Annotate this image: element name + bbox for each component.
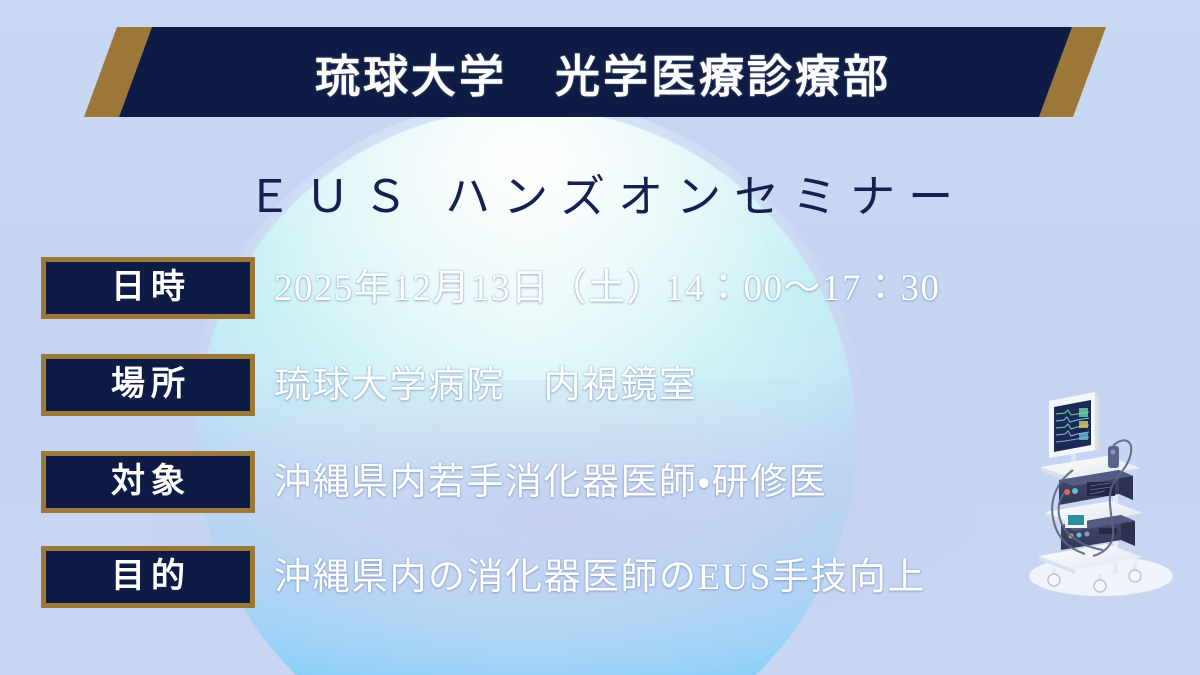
unit-indicator-blue [1072, 488, 1078, 494]
value-venue: 琉球大学病院 内視鏡室 [274, 367, 698, 404]
label-text-purpose: 目的 [105, 560, 191, 594]
value-audience: 沖縄県内若手消化器医師・研修医 [274, 464, 827, 501]
unit-knob-gray [1085, 532, 1090, 537]
info-row-venue: 場所 琉球大学病院 内視鏡室 [41, 354, 698, 416]
label-box-datetime: 日時 [41, 257, 255, 319]
info-row-audience: 対象 沖縄県内若手消化器医師・研修医 [41, 451, 827, 513]
info-row-datetime: 日時 2025年12月13日（土）14：00〜17：30 [41, 257, 941, 319]
label-box-venue: 場所 [41, 354, 255, 416]
endoscope-handle [1108, 446, 1119, 468]
small-display-screen [1068, 515, 1084, 525]
label-box-audience: 対象 [41, 451, 255, 513]
seminar-flyer-slide: 琉球大学 光学医療診療部 ＥＵＳ ハンズオンセミナー 日時 2025年12月13… [0, 0, 1200, 675]
label-text-venue: 場所 [105, 368, 191, 402]
endoscope-dial [1111, 450, 1116, 455]
label-box-purpose: 目的 [41, 546, 255, 608]
value-purpose: 沖縄県内の消化器医師のEUS手技向上 [274, 559, 926, 596]
label-text-audience: 対象 [105, 465, 191, 499]
value-datetime: 2025年12月13日（土）14：00〜17：30 [274, 270, 941, 307]
monitor-bezel-side [1095, 392, 1099, 452]
endoscopy-tower-icon [1015, 388, 1195, 600]
unit-knob-cyan [1077, 533, 1082, 538]
label-text-datetime: 日時 [105, 271, 191, 305]
info-row-purpose: 目的 沖縄県内の消化器医師のEUS手技向上 [41, 546, 926, 608]
